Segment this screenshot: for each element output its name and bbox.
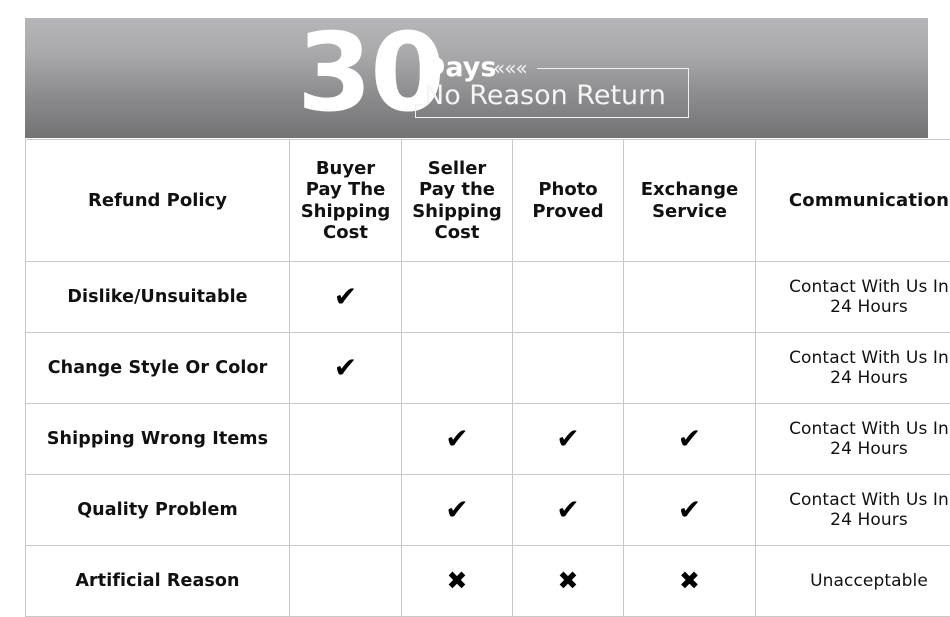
cell-photo-proved: ✔: [513, 404, 624, 475]
promo-tagline: No Reason Return: [424, 78, 666, 114]
check-icon: ✔: [556, 496, 579, 524]
column-header-line: Photo: [538, 179, 597, 200]
days-label: Days: [423, 54, 496, 81]
cell-communication: Contact With Us In 24 Hours: [756, 333, 950, 404]
check-icon: ✔: [445, 425, 468, 453]
communication-line: 24 Hours: [830, 368, 908, 388]
cell-photo-proved: [513, 333, 624, 404]
cell-photo-proved: [513, 262, 624, 333]
check-icon: ✔: [334, 354, 357, 382]
promo-banner: 30 Days ««« No Reason Return: [25, 18, 928, 138]
cell-buyer-pay: ✔: [290, 262, 402, 333]
column-header-communication: Communication: [756, 140, 950, 262]
table-row: Quality Problem ✔ ✔ ✔ Contact With Us In…: [26, 475, 950, 546]
tagline-frame-left-rule: [415, 104, 416, 118]
cross-icon: ✖: [558, 568, 579, 593]
column-header-refund-policy: Refund Policy: [26, 140, 290, 262]
cell-buyer-pay: ✔: [290, 333, 402, 404]
table-body: Dislike/Unsuitable ✔ Contact With Us In …: [26, 262, 950, 617]
cell-seller-pay: ✔: [402, 475, 513, 546]
cell-exchange-service: [624, 262, 756, 333]
cell-buyer-pay: [290, 404, 402, 475]
communication-line: Contact With Us In: [789, 277, 949, 297]
refund-policy-table: Refund Policy Buyer Pay The Shipping Cos…: [25, 139, 950, 617]
column-header-line: Cost: [323, 222, 368, 243]
column-header-line: Service: [652, 201, 727, 222]
cell-seller-pay: [402, 333, 513, 404]
cell-exchange-service: [624, 333, 756, 404]
cell-communication: Contact With Us In 24 Hours: [756, 262, 950, 333]
column-header-line: Pay The: [306, 179, 386, 200]
communication-line: 24 Hours: [830, 510, 908, 530]
column-header-photo-proved: Photo Proved: [513, 140, 624, 262]
cell-photo-proved: ✔: [513, 475, 624, 546]
column-header-line: Shipping: [412, 201, 502, 222]
cell-exchange-service: ✔: [624, 475, 756, 546]
cell-communication: Contact With Us In 24 Hours: [756, 475, 950, 546]
column-header-line: Seller: [428, 158, 487, 179]
communication-line: 24 Hours: [830, 297, 908, 317]
check-icon: ✔: [678, 496, 701, 524]
table-header-row: Refund Policy Buyer Pay The Shipping Cos…: [26, 140, 950, 262]
cell-communication: Contact With Us In 24 Hours: [756, 404, 950, 475]
column-header-line: Pay the: [419, 179, 495, 200]
cell-reason: Artificial Reason: [26, 546, 290, 617]
check-icon: ✔: [678, 425, 701, 453]
table-row: Change Style Or Color ✔ Contact With Us …: [26, 333, 950, 404]
check-icon: ✔: [334, 283, 357, 311]
table-header: Refund Policy Buyer Pay The Shipping Cos…: [26, 140, 950, 262]
communication-line: Unacceptable: [810, 571, 928, 591]
column-header-line: Shipping: [301, 201, 391, 222]
column-header-line: Exchange: [641, 179, 738, 200]
table-row: Artificial Reason ✖ ✖ ✖ Unacceptable: [26, 546, 950, 617]
column-header-exchange-service: Exchange Service: [624, 140, 756, 262]
cell-reason: Change Style Or Color: [26, 333, 290, 404]
communication-line: Contact With Us In: [789, 419, 949, 439]
cell-reason: Quality Problem: [26, 475, 290, 546]
communication-line: Contact With Us In: [789, 348, 949, 368]
check-icon: ✔: [556, 425, 579, 453]
table-row: Shipping Wrong Items ✔ ✔ ✔ Contact With …: [26, 404, 950, 475]
communication-line: Contact With Us In: [789, 490, 949, 510]
column-header-text: Communication: [789, 190, 949, 211]
cell-communication: Unacceptable: [756, 546, 950, 617]
table-row: Dislike/Unsuitable ✔ Contact With Us In …: [26, 262, 950, 333]
cell-reason: Dislike/Unsuitable: [26, 262, 290, 333]
cell-seller-pay: ✖: [402, 546, 513, 617]
cross-icon: ✖: [679, 568, 700, 593]
communication-line: 24 Hours: [830, 439, 908, 459]
cell-exchange-service: ✔: [624, 404, 756, 475]
cell-buyer-pay: [290, 546, 402, 617]
column-header-buyer-pay-shipping: Buyer Pay The Shipping Cost: [290, 140, 402, 262]
tagline-frame-bottom-rule: [415, 117, 689, 118]
cell-exchange-service: ✖: [624, 546, 756, 617]
cell-reason: Shipping Wrong Items: [26, 404, 290, 475]
chevron-left-triple-icon: «««: [493, 58, 527, 78]
tagline-frame-corner-tick: [415, 104, 422, 105]
column-header-line: Proved: [532, 201, 603, 222]
column-header-seller-pay-shipping: Seller Pay the Shipping Cost: [402, 140, 513, 262]
cell-photo-proved: ✖: [513, 546, 624, 617]
cell-buyer-pay: [290, 475, 402, 546]
cell-seller-pay: [402, 262, 513, 333]
column-header-line: Cost: [435, 222, 480, 243]
cross-icon: ✖: [447, 568, 468, 593]
tagline-frame-right-rule: [688, 68, 689, 118]
column-header-line: Buyer: [316, 158, 375, 179]
check-icon: ✔: [445, 496, 468, 524]
promo-banner-content: 30 Days ««« No Reason Return: [297, 18, 697, 138]
cell-seller-pay: ✔: [402, 404, 513, 475]
column-header-text: Refund Policy: [88, 190, 227, 211]
tagline-frame-top-rule: [537, 68, 689, 69]
